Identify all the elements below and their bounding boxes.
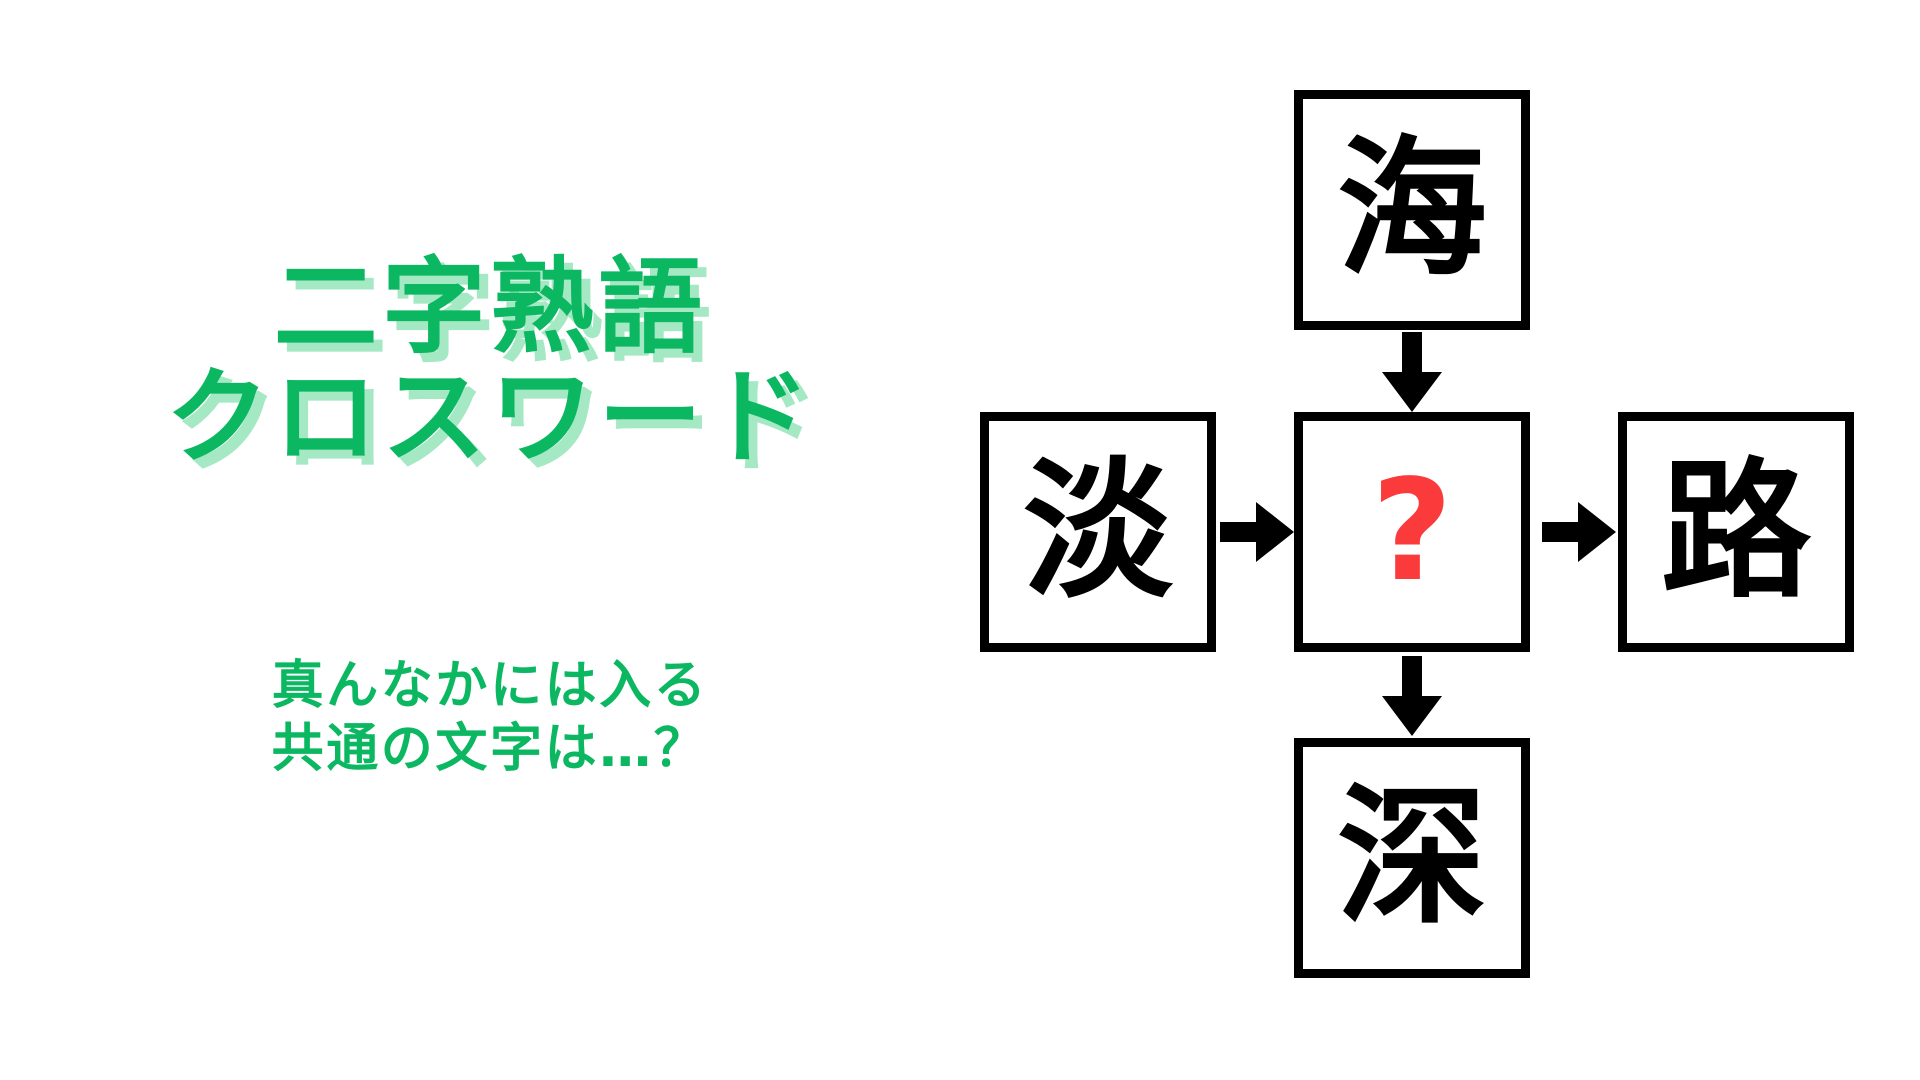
subtitle-line-1: 真んなかには入る [0,655,980,718]
puzzle-cell-center-answer[interactable]: ? [1294,412,1530,652]
title-line-2: クロスワード [0,362,980,472]
answer-question-mark: ? [1371,462,1452,602]
title-panel: 二字熟語 クロスワード 真んなかには入る 共通の文字は…？ [0,0,980,1080]
puzzle-cell-left[interactable]: 淡 [980,412,1216,652]
subtitle-line-2: 共通の文字は…？ [0,718,980,781]
page-subtitle: 真んなかには入る 共通の文字は…？ [0,655,980,782]
poster-canvas: 二字熟語 クロスワード 真んなかには入る 共通の文字は…？ 海 淡 [0,0,1920,1080]
puzzle-cell-right[interactable]: 路 [1618,412,1854,652]
arrow-down-icon [1378,332,1446,412]
arrow-right-icon [1220,498,1294,566]
arrow-right-icon [1542,498,1616,566]
puzzle-cell-top[interactable]: 海 [1294,90,1530,330]
puzzle-cell-bottom[interactable]: 深 [1294,738,1530,978]
puzzle-cell-right-label: 路 [1661,457,1811,607]
puzzle-cell-top-label: 海 [1337,135,1487,285]
arrow-down-icon [1378,656,1446,736]
puzzle-cell-bottom-label: 深 [1337,783,1487,933]
puzzle-cell-left-label: 淡 [1023,457,1173,607]
crossword-diagram: 海 淡 ? 路 [980,0,1920,1080]
title-line-1: 二字熟語 [0,252,980,362]
page-title: 二字熟語 クロスワード [0,252,980,472]
